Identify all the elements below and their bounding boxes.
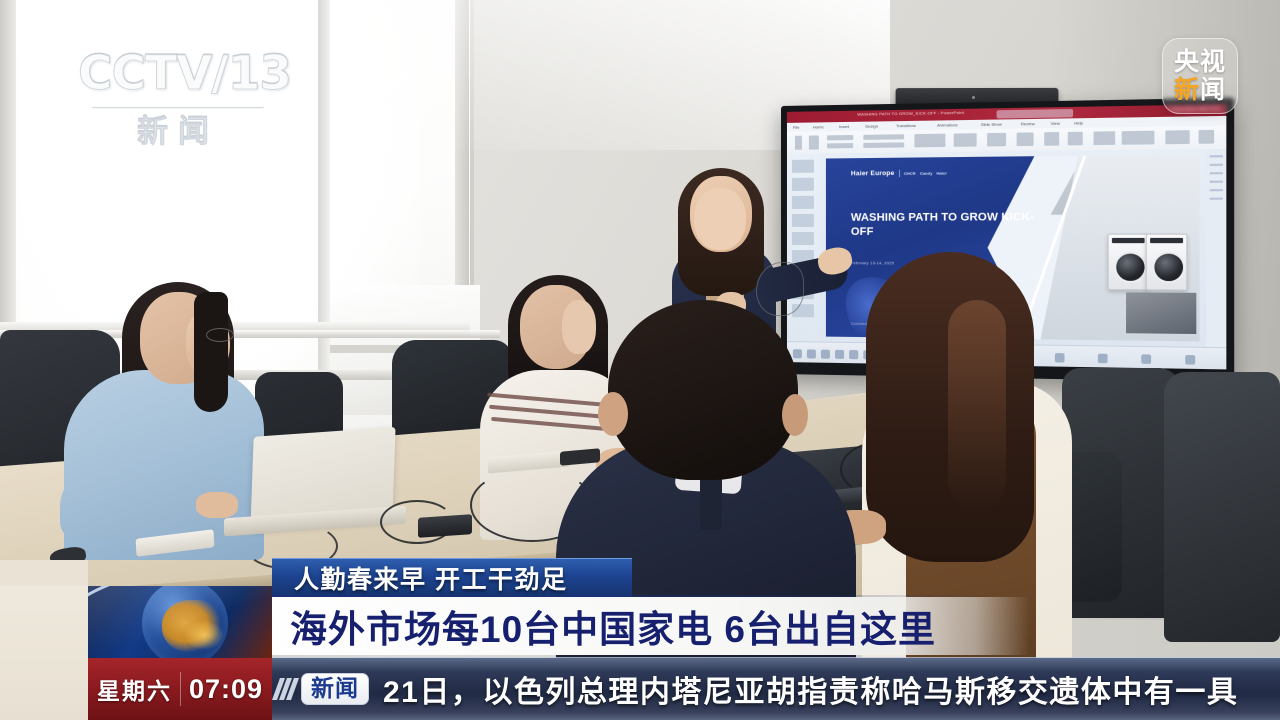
attendee-left-hair-front [194, 292, 228, 412]
attendee-front-head [608, 300, 798, 480]
ticker-slash-icon [276, 678, 295, 700]
kicker-banner: 人勤春来早 开工干劲足 [272, 558, 632, 598]
slide-photo-bottom [1126, 292, 1196, 334]
headline-text: 海外市场每10台中国家电 6台出自这里 [290, 599, 936, 653]
headline-banner: 海外市场每10台中国家电 6台出自这里 [250, 597, 1030, 655]
app-badge-line2: 新闻 [1174, 77, 1226, 103]
slide-title: WASHING PATH TO GROW KICK-OFF [851, 211, 1042, 239]
slide-date: February 13-14, 2025 [851, 260, 894, 265]
broadcast-frame: WASHING PATH TO GROW_KICK-OFF - PowerPoi… [0, 0, 1280, 720]
powerpoint-right-rail[interactable] [1206, 149, 1226, 348]
attendee-front-ear [782, 394, 808, 436]
slide-logo-candy: Candy [920, 171, 933, 176]
attendee-left-hand [196, 492, 238, 518]
slide-logo-chcr: CHCR [904, 171, 916, 176]
attendee-right-hair-highlight [948, 300, 1006, 510]
kicker-text: 人勤春来早 开工干劲足 [294, 560, 567, 596]
attendee-front-ear [598, 392, 628, 436]
slide-logo-haier: Haier [937, 171, 947, 176]
ticker-text: 21日，以色列总理内塔尼亚胡指责称哈马斯移交遗体中有一具 [383, 667, 1238, 711]
attendee-center-face [562, 300, 596, 354]
app-badge-line2-highlight: 新 [1174, 76, 1200, 104]
soundbar-camera-dot [972, 96, 975, 99]
news-ticker: 新闻 21日，以色列总理内塔尼亚胡指责称哈马斯移交遗体中有一具 [272, 658, 1280, 720]
slide-brand-separator [899, 170, 900, 177]
hanging-cable [756, 262, 804, 316]
office-chair [1164, 372, 1280, 642]
dryer-image [1146, 234, 1188, 291]
slide-brand-name: Haier Europe [851, 170, 895, 177]
clock-label: 07:09 [189, 674, 263, 705]
app-badge-line2-rest: 闻 [1200, 76, 1226, 104]
washing-machine-image [1107, 234, 1148, 291]
powerpoint-slide-thumbnail-pane[interactable] [787, 154, 821, 343]
lower-left-fill [0, 586, 88, 720]
ticker-badge: 新闻 [301, 673, 369, 705]
news-globe-emblem [88, 586, 272, 658]
powerpoint-title-text: WASHING PATH TO GROW_KICK-OFF - PowerPoi… [857, 110, 964, 117]
datetime-bar: 星期六 07:09 [88, 658, 272, 720]
table-cable [380, 500, 454, 544]
cctv-news-app-badge: 央视 新闻 [1162, 38, 1238, 114]
presenter-face [694, 188, 746, 250]
powerpoint-search-box[interactable] [997, 108, 1073, 118]
datetime-divider [180, 672, 181, 706]
day-of-week-label: 星期六 [97, 672, 172, 706]
eyeglasses-icon [206, 328, 234, 342]
app-badge-line1: 央视 [1174, 49, 1226, 75]
slide-brand-row: Haier Europe CHCR Candy Haier [851, 170, 947, 178]
globe-shine [88, 586, 272, 658]
